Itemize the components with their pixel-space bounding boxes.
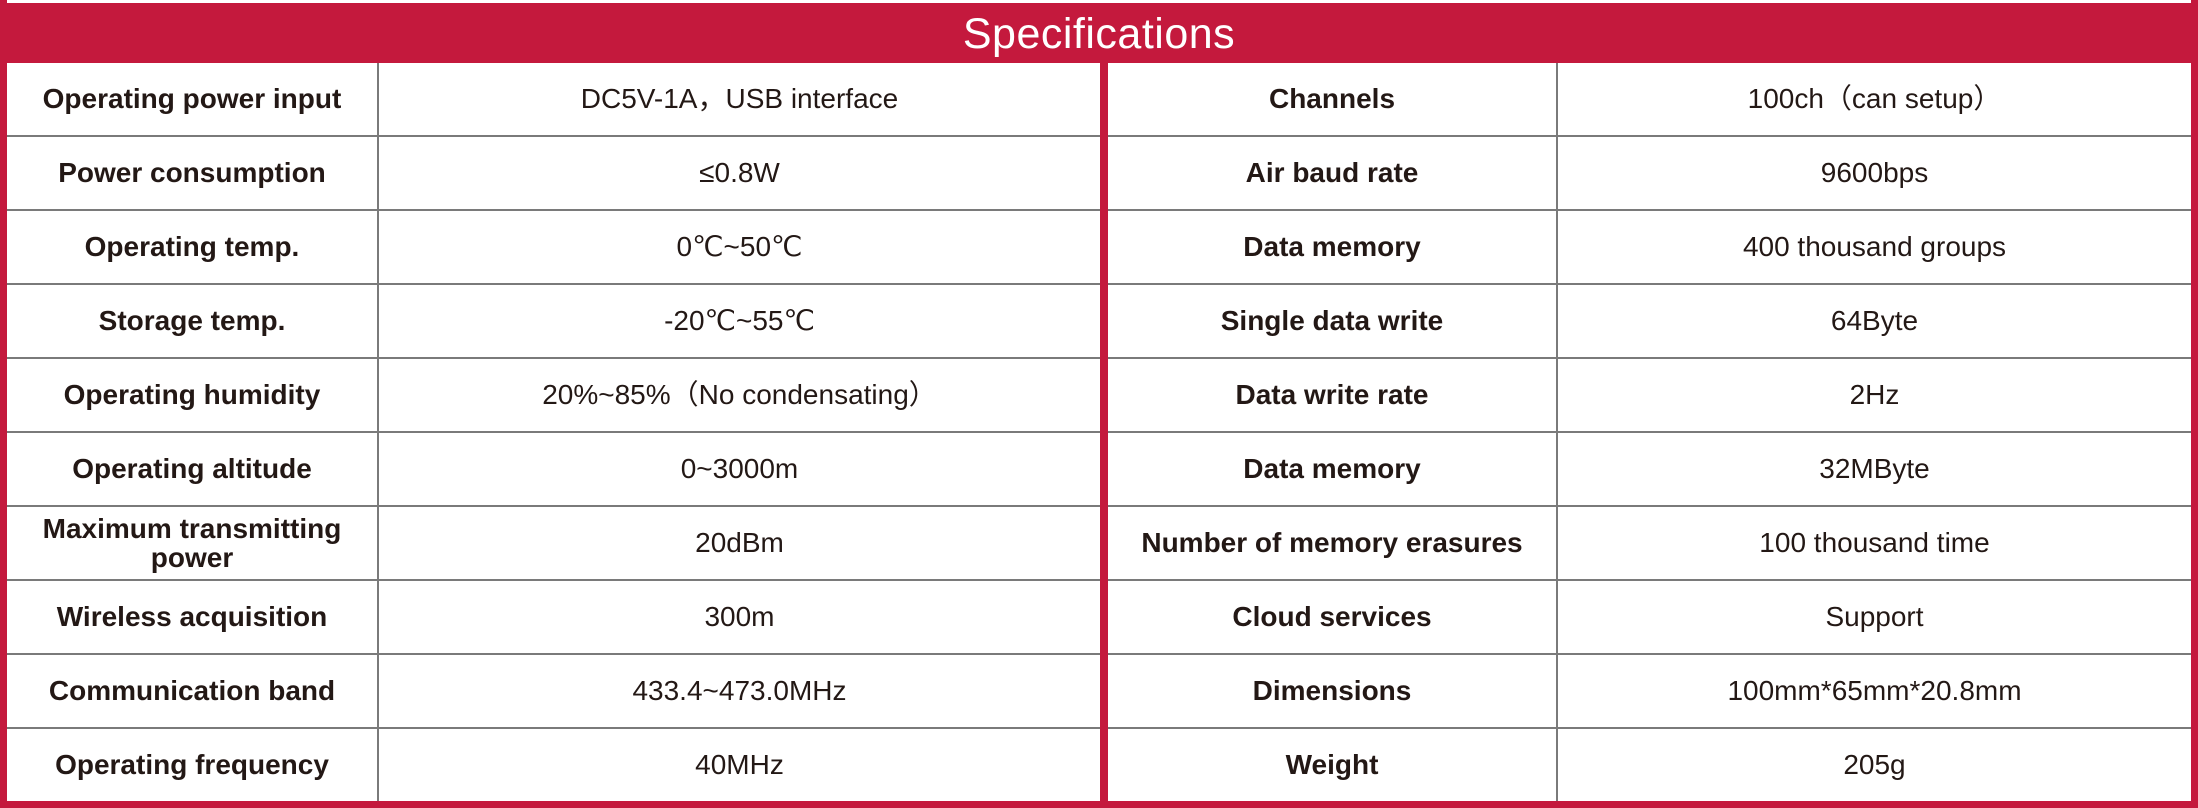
table-row: Air baud rate 9600bps [1108, 137, 2191, 211]
spec-label: Cloud services [1108, 581, 1558, 653]
spec-value: Support [1558, 581, 2191, 653]
spec-label: Channels [1108, 63, 1558, 135]
spec-label: Operating humidity [7, 359, 379, 431]
spec-label: Operating altitude [7, 433, 379, 505]
spec-label: Power consumption [7, 137, 379, 209]
spec-value: 100 thousand time [1558, 507, 2191, 579]
table-row: Operating humidity 20%~85%（No condensati… [7, 359, 1100, 433]
spec-table-right: Channels 100ch（can setup） Air baud rate … [1108, 63, 2191, 801]
spec-label: Operating frequency [7, 729, 379, 801]
spec-label: Operating temp. [7, 211, 379, 283]
spec-value: 0~3000m [379, 433, 1100, 505]
table-row: Data write rate 2Hz [1108, 359, 2191, 433]
spec-label: Storage temp. [7, 285, 379, 357]
table-row: Maximum transmitting power 20dBm [7, 507, 1100, 581]
spec-label: Single data write [1108, 285, 1558, 357]
spec-value: 20%~85%（No condensating） [379, 359, 1100, 431]
spec-value: 9600bps [1558, 137, 2191, 209]
table-row: Operating temp. 0℃~50℃ [7, 211, 1100, 285]
spec-value: 20dBm [379, 507, 1100, 579]
table-row: Operating frequency 40MHz [7, 729, 1100, 801]
spec-label: Dimensions [1108, 655, 1558, 727]
spec-value: 40MHz [379, 729, 1100, 801]
spec-value: 205g [1558, 729, 2191, 801]
spec-label: Air baud rate [1108, 137, 1558, 209]
spec-value: 100ch（can setup） [1558, 63, 2191, 135]
spec-value: 2Hz [1558, 359, 2191, 431]
title-banner: Specifications [7, 0, 2191, 63]
spec-value: DC5V-1A，USB interface [379, 63, 1100, 135]
spec-label: Data memory [1108, 211, 1558, 283]
spec-label: Wireless acquisition [7, 581, 379, 653]
center-divider [1100, 63, 1108, 801]
table-row: Cloud services Support [1108, 581, 2191, 655]
spec-label: Communication band [7, 655, 379, 727]
table-row: Communication band 433.4~473.0MHz [7, 655, 1100, 729]
spec-label: Maximum transmitting power [7, 507, 379, 579]
table-row: Operating power input DC5V-1A，USB interf… [7, 63, 1100, 137]
specifications-table: Operating power input DC5V-1A，USB interf… [7, 63, 2191, 801]
spec-value: ≤0.8W [379, 137, 1100, 209]
table-row: Wireless acquisition 300m [7, 581, 1100, 655]
table-row: Data memory 400 thousand groups [1108, 211, 2191, 285]
table-row: Power consumption ≤0.8W [7, 137, 1100, 211]
table-row: Storage temp. -20℃~55℃ [7, 285, 1100, 359]
table-row: Data memory 32MByte [1108, 433, 2191, 507]
table-row: Operating altitude 0~3000m [7, 433, 1100, 507]
specifications-sheet: Specifications Operating power input DC5… [0, 0, 2198, 808]
table-row: Dimensions 100mm*65mm*20.8mm [1108, 655, 2191, 729]
table-row: Single data write 64Byte [1108, 285, 2191, 359]
spec-table-left: Operating power input DC5V-1A，USB interf… [7, 63, 1100, 801]
spec-label: Operating power input [7, 63, 379, 135]
spec-label: Weight [1108, 729, 1558, 801]
spec-label: Number of memory erasures [1108, 507, 1558, 579]
table-row: Weight 205g [1108, 729, 2191, 801]
spec-value: 100mm*65mm*20.8mm [1558, 655, 2191, 727]
table-row: Number of memory erasures 100 thousand t… [1108, 507, 2191, 581]
table-row: Channels 100ch（can setup） [1108, 63, 2191, 137]
spec-value: -20℃~55℃ [379, 285, 1100, 357]
spec-value: 400 thousand groups [1558, 211, 2191, 283]
spec-value: 433.4~473.0MHz [379, 655, 1100, 727]
spec-value: 300m [379, 581, 1100, 653]
spec-value: 32MByte [1558, 433, 2191, 505]
page-title: Specifications [963, 13, 1235, 56]
spec-label: Data memory [1108, 433, 1558, 505]
spec-value: 64Byte [1558, 285, 2191, 357]
spec-label: Data write rate [1108, 359, 1558, 431]
spec-value: 0℃~50℃ [379, 211, 1100, 283]
